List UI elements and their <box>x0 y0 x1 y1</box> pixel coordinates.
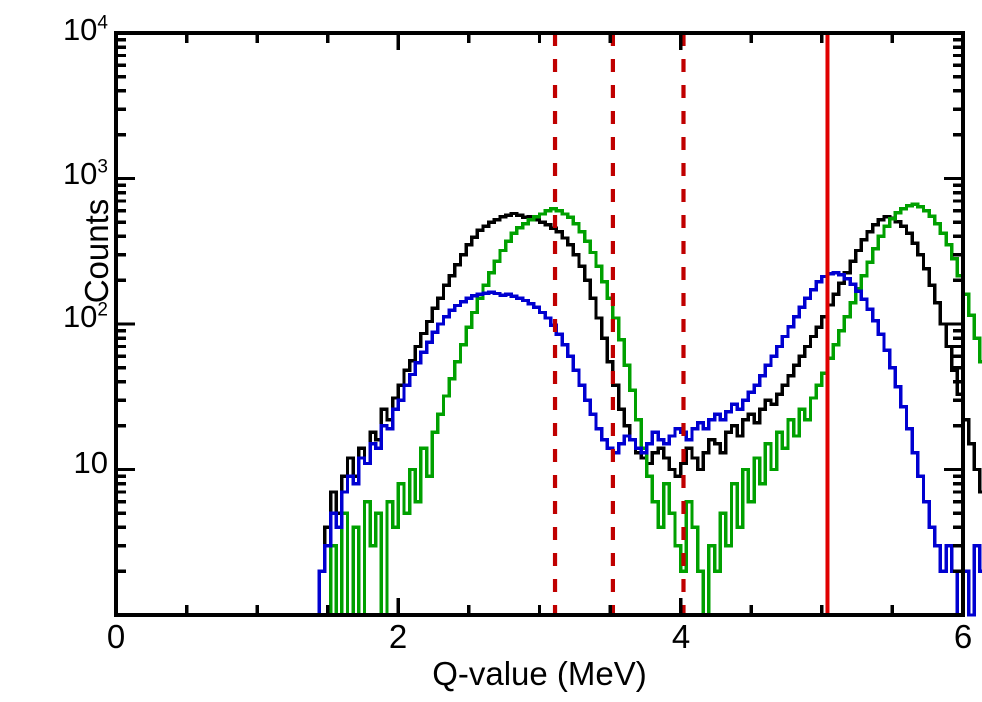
series-blue <box>116 273 982 615</box>
plot-canvas <box>0 0 982 702</box>
axis-frame <box>116 33 963 615</box>
series-black <box>116 213 982 615</box>
series-green <box>116 204 982 615</box>
axis-layer <box>116 33 963 615</box>
chart-figure: Counts Q-value (MeV) 104 103 102 10 0 2 … <box>0 0 982 702</box>
series-layer <box>116 204 982 615</box>
